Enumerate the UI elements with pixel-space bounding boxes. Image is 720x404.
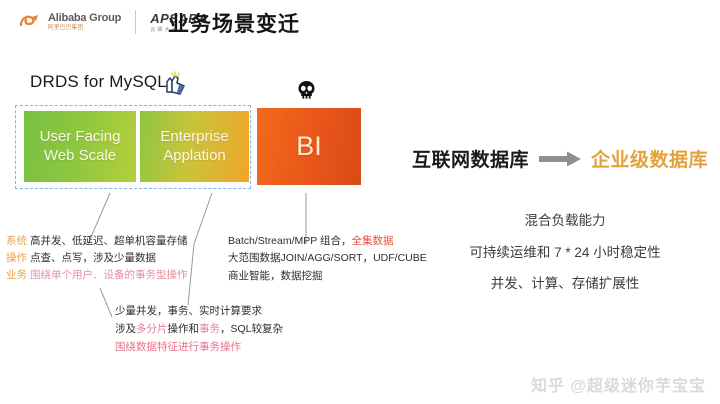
capability-note-2: 可持续运维和 7 * 24 小时稳定性 — [430, 237, 700, 269]
alibaba-wordmark: Alibaba Group 阿里巴巴集团 — [48, 13, 121, 32]
alibaba-logo-main: Alibaba Group — [48, 13, 121, 24]
note-left-text-business: 围绕单个用户、设备的事务型操作 — [30, 269, 188, 281]
enterprise-capability-notes: 混合负载能力 可持续运维和 7 * 24 小时稳定性 并发、计算、存储扩展性 — [430, 205, 700, 300]
panel-user-facing-label: User Facing Web Scale — [40, 128, 121, 166]
alibaba-logo-sub: 阿里巴巴集团 — [48, 26, 121, 32]
connector-lines — [0, 0, 720, 404]
note-bi-row: Batch/Stream/MPP 组合，全集数据 — [228, 233, 427, 250]
thumbs-up-icon — [160, 68, 190, 98]
note-left-text-system: 高并发、低延迟、超单机容量存储 — [30, 235, 188, 247]
note-left-tag-operation: 操作 — [6, 252, 27, 264]
drds-label: DRDS for MySQL — [30, 72, 167, 92]
note-bi: Batch/Stream/MPP 组合，全集数据 大范围数据JOIN/AGG/S… — [228, 233, 427, 285]
panel-bi-label: BI — [296, 130, 322, 164]
note-ent-line2-hl1: 多分片 — [136, 323, 168, 335]
watermark: 知乎 @超级迷你芋宝宝 — [531, 372, 706, 396]
note-ent-line2-hl2: 事务 — [199, 323, 220, 335]
note-left-row: 操作点查、点写，涉及少量数据 — [6, 250, 188, 267]
note-bi-line1-plain: Batch/Stream/MPP 组合， — [228, 235, 352, 247]
note-left-row: 业务围绕单个用户、设备的事务型操作 — [6, 267, 188, 284]
headline-source-label: 互联网数据库 — [412, 145, 529, 172]
page-title: 业务场景变迁 — [168, 8, 300, 38]
headline-target-label: 企业级数据库 — [591, 145, 708, 172]
capability-note-3: 并发、计算、存储扩展性 — [430, 268, 700, 300]
right-arrow-icon — [539, 151, 581, 167]
panel-enterprise-application[interactable]: Enterprise Applation — [140, 111, 249, 182]
note-enterprise-row: 涉及多分片操作和事务，SQL较复杂 — [115, 321, 283, 339]
note-enterprise-application: 少量并发，事务、实时计算要求 涉及多分片操作和事务，SQL较复杂 围绕数据特征进… — [115, 303, 283, 357]
note-bi-row: 商业智能，数据挖掘 — [228, 268, 427, 285]
note-left-text-operation: 点查、点写，涉及少量数据 — [30, 252, 156, 264]
note-bi-row: 大范围数据JOIN/AGG/SORT，UDF/CUBE — [228, 250, 427, 267]
note-bi-line1-highlight: 全集数据 — [352, 235, 394, 247]
note-ent-line2-prefix: 涉及 — [115, 323, 136, 335]
note-user-facing: 系统高并发、低延迟、超单机容量存储 操作点查、点写，涉及少量数据 业务围绕单个用… — [6, 233, 188, 284]
note-left-row: 系统高并发、低延迟、超单机容量存储 — [6, 233, 188, 250]
note-left-tag-system: 系统 — [6, 235, 27, 247]
note-ent-line2-mid: 操作和 — [168, 323, 200, 335]
note-left-tag-business: 业务 — [6, 269, 27, 281]
alibaba-swirl-icon — [18, 13, 40, 31]
note-enterprise-row: 少量并发，事务、实时计算要求 — [115, 303, 283, 321]
logo-divider — [135, 10, 136, 34]
transition-headline: 互联网数据库 企业级数据库 — [412, 145, 708, 172]
note-enterprise-row: 围绕数据特征进行事务操作 — [115, 339, 283, 357]
skull-icon — [296, 80, 317, 105]
note-ent-line2-suffix: ，SQL较复杂 — [220, 323, 283, 335]
capability-note-1: 混合负载能力 — [430, 205, 700, 237]
panel-bi[interactable]: BI — [257, 108, 361, 185]
panel-user-facing[interactable]: User Facing Web Scale — [24, 111, 136, 182]
header-bar: Alibaba Group 阿里巴巴集团 APSARA 云栖大会 业务场景变迁 — [0, 0, 720, 48]
panel-enterprise-label: Enterprise Applation — [160, 128, 228, 166]
